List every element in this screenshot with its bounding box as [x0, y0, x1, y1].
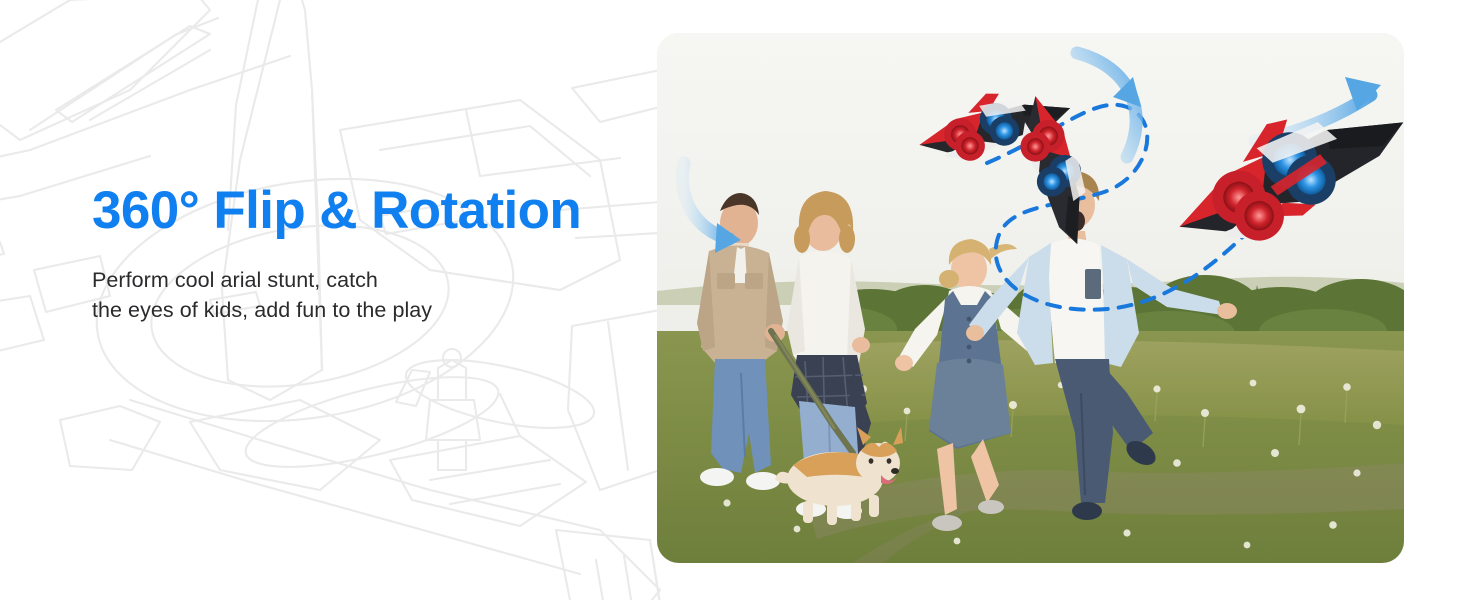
subtitle: Perform cool arial stunt, catch the eyes…: [92, 239, 612, 326]
page-title: 360° Flip & Rotation: [92, 183, 612, 239]
boy-tee: [1045, 238, 1109, 363]
boy-shoe-left: [1072, 502, 1102, 520]
lifestyle-photo: [657, 33, 1404, 563]
copy-block: 360° Flip & Rotation Perform cool arial …: [92, 183, 612, 326]
product-feature-banner: 360° Flip & Rotation Perform cool arial …: [0, 0, 1464, 600]
subtitle-line-2: the eyes of kids, add fun to the play: [92, 295, 612, 326]
subtitle-line-1: Perform cool arial stunt, catch: [92, 265, 612, 296]
